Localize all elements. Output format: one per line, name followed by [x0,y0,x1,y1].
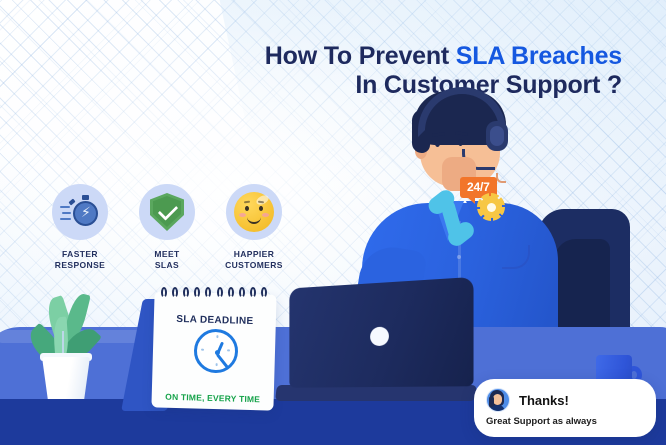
chat-title: Thanks! [519,393,569,408]
feature-meet-slas: MEET SLAs [129,184,205,272]
feature-label-line2: SLAs [155,260,179,270]
feature-faster-response: ⚡ FASTER RESPONSE [42,184,118,272]
feature-label: MEET SLAs [129,249,205,272]
feature-icon-circle [226,184,282,240]
calendar-card: SLA DEADLINE ON TIME, EVERY TIME [151,291,276,410]
chat-notification-card[interactable]: Thanks! Great Support as always [474,379,656,437]
avatar [486,388,510,412]
feature-label: FASTER RESPONSE [42,249,118,272]
shield-check-icon [150,193,184,231]
calendar-spiral-binding [161,287,267,298]
feature-label-line1: HAPPIER [234,249,275,259]
headline-line1-prefix: How To Prevent [265,42,456,70]
calendar-title: SLA DEADLINE [154,313,276,327]
feature-icon-circle: ⚡ [52,184,108,240]
sla-banner: How To Prevent SLA Breaches In Customer … [0,0,666,445]
chat-subtitle: Great Support as always [486,416,644,427]
feature-label-line2: CUSTOMERS [225,260,283,270]
laptop-lid [289,277,473,388]
laptop-logo [370,327,389,347]
clock-icon [193,328,238,373]
rosette-icon [480,196,502,218]
feature-list: ⚡ FASTER RESPONSE MEET SLAs [42,184,292,272]
calendar-footer: ON TIME, EVERY TIME [152,391,274,404]
feature-label-line1: MEET [154,249,179,259]
smiley-face-icon [234,192,274,232]
feature-label-line1: FASTER [62,249,98,259]
feature-icon-circle [139,184,195,240]
badge-24-7: 24/7 [460,177,497,198]
headline-accent: SLA Breaches [456,42,622,70]
chat-header: Thanks! [486,388,644,412]
feature-label: HAPPIER CUSTOMERS [216,249,292,272]
feature-happier-customers: HAPPIER CUSTOMERS [216,184,292,272]
stopwatch-icon: ⚡ [60,193,100,231]
plant-pot [42,357,90,399]
feature-label-line2: RESPONSE [55,260,105,270]
sla-deadline-calendar: SLA DEADLINE ON TIME, EVERY TIME [128,289,278,411]
potted-plant [24,291,108,399]
laptop [276,283,476,401]
